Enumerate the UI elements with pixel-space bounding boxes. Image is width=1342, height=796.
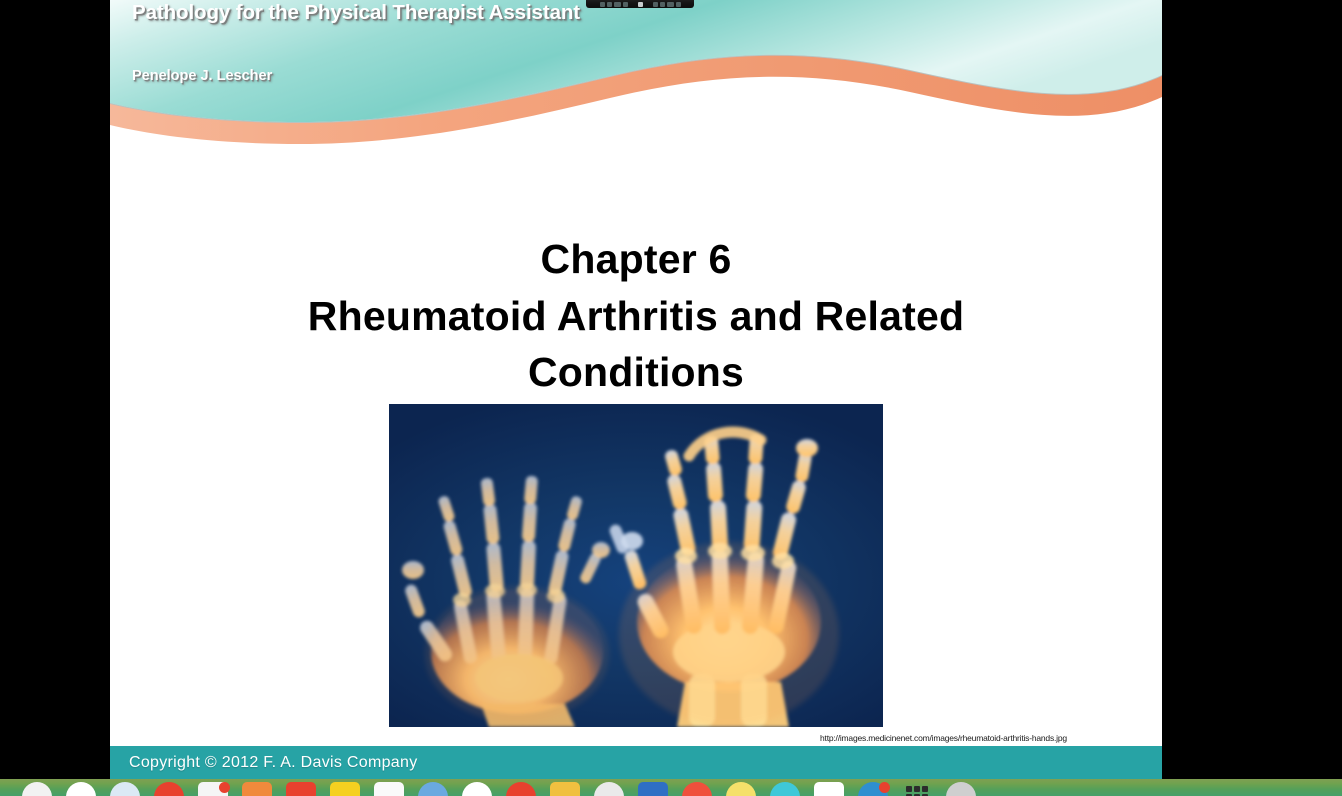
presentation-slide: Pathology for the Physical Therapist Ass… bbox=[110, 0, 1162, 779]
taskbar-icon-17[interactable] bbox=[726, 782, 756, 796]
taskbar-icon-8[interactable] bbox=[330, 782, 360, 796]
taskbar-icon-22[interactable] bbox=[946, 782, 976, 796]
heading-line-2: Rheumatoid Arthritis and Related bbox=[110, 288, 1162, 345]
taskbar-icon-9[interactable] bbox=[374, 782, 404, 796]
taskbar-icon-2[interactable] bbox=[66, 782, 96, 796]
pointer-tool-icon[interactable] bbox=[623, 2, 628, 7]
taskbar-icon-18[interactable] bbox=[770, 782, 800, 796]
taskbar-icon-5[interactable] bbox=[198, 782, 228, 796]
slide-heading: Chapter 6 Rheumatoid Arthritis and Relat… bbox=[110, 231, 1162, 401]
taskbar-icon-15[interactable] bbox=[638, 782, 668, 796]
taskbar-icon-21[interactable] bbox=[902, 782, 932, 796]
slide-banner: Pathology for the Physical Therapist Ass… bbox=[110, 0, 1162, 150]
heading-line-3: Conditions bbox=[110, 344, 1162, 401]
presentation-control-bar[interactable] bbox=[586, 0, 694, 8]
taskbar-icon-1[interactable] bbox=[22, 782, 52, 796]
taskbar-icon-20-badge bbox=[879, 782, 890, 793]
taskbar-icon-6[interactable] bbox=[242, 782, 272, 796]
xray-hands-graphic bbox=[389, 404, 883, 727]
os-taskbar[interactable] bbox=[0, 779, 1342, 796]
taskbar-icon-4[interactable] bbox=[154, 782, 184, 796]
taskbar-icon-20[interactable] bbox=[858, 782, 888, 796]
zoom-icon[interactable] bbox=[660, 2, 665, 7]
taskbar-icon-19[interactable] bbox=[814, 782, 844, 796]
taskbar-icon-12[interactable] bbox=[506, 782, 536, 796]
previous-slide-icon[interactable] bbox=[600, 2, 605, 7]
exit-presentation-icon[interactable] bbox=[667, 2, 674, 7]
next-slide-icon[interactable] bbox=[607, 2, 612, 7]
book-author: Penelope J. Lescher bbox=[132, 68, 272, 84]
screen-root: Pathology for the Physical Therapist Ass… bbox=[0, 0, 1342, 796]
settings-icon[interactable] bbox=[676, 2, 681, 7]
xray-hands-image bbox=[389, 404, 883, 727]
taskbar-icon-3[interactable] bbox=[110, 782, 140, 796]
copyright-text: Copyright © 2012 F. A. Davis Company bbox=[129, 754, 418, 772]
taskbar-icon-row bbox=[0, 782, 976, 796]
taskbar-icon-5-badge bbox=[219, 782, 230, 793]
taskbar-icon-7[interactable] bbox=[286, 782, 316, 796]
heading-line-1: Chapter 6 bbox=[110, 231, 1162, 288]
slide-footer: Copyright © 2012 F. A. Davis Company bbox=[110, 746, 1162, 779]
taskbar-icon-16[interactable] bbox=[682, 782, 712, 796]
taskbar-icon-14[interactable] bbox=[594, 782, 624, 796]
taskbar-icon-13[interactable] bbox=[550, 782, 580, 796]
book-title: Pathology for the Physical Therapist Ass… bbox=[132, 1, 580, 25]
pen-tool-icon[interactable] bbox=[614, 2, 621, 7]
control-bar-divider-2 bbox=[645, 6, 651, 7]
figure-credit-url: http://images.medicinenet.com/images/rhe… bbox=[820, 733, 1067, 743]
control-bar-divider bbox=[630, 6, 636, 7]
more-options-icon[interactable] bbox=[653, 2, 658, 7]
taskbar-icon-11[interactable] bbox=[462, 782, 492, 796]
slide-menu-icon[interactable] bbox=[638, 2, 643, 7]
taskbar-icon-10[interactable] bbox=[418, 782, 448, 796]
